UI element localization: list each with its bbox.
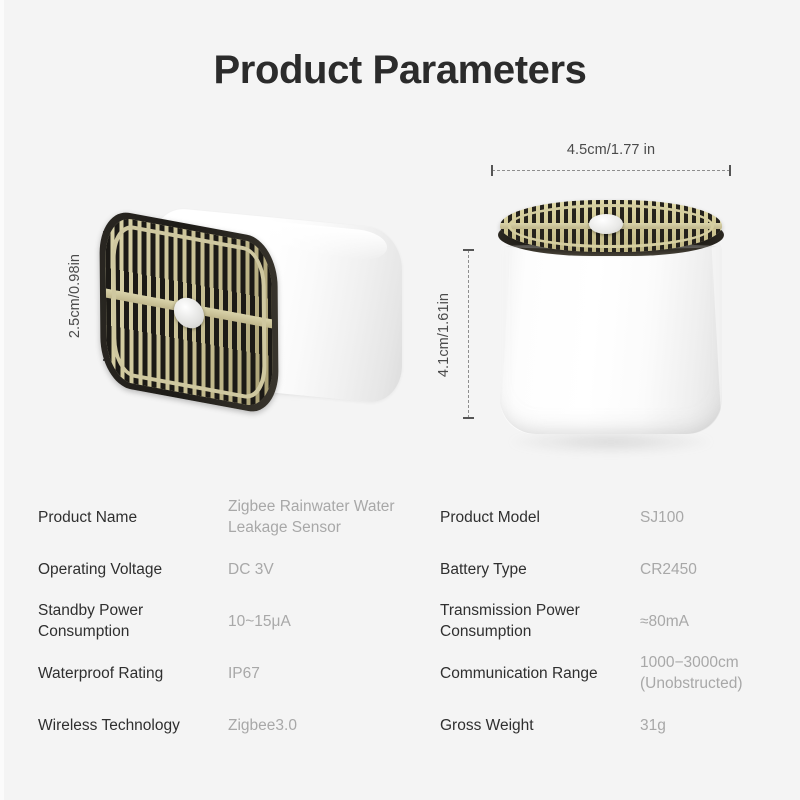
spec-value: Zigbee3.0 <box>228 700 440 752</box>
product-image-top-view <box>492 192 730 452</box>
spec-value: 31g <box>640 700 778 752</box>
page-title: Product Parameters <box>0 48 800 93</box>
right-product-body-shading <box>500 234 722 434</box>
spec-value: DC 3V <box>228 544 440 596</box>
right-width-cap-right <box>729 165 731 176</box>
spec-label: Wireless Technology <box>38 700 228 752</box>
spec-label: Waterproof Rating <box>38 648 228 700</box>
product-image-front-view <box>100 218 405 403</box>
right-width-dimension-label: 4.5cm/1.77 in <box>492 142 730 158</box>
spec-value: IP67 <box>228 648 440 700</box>
spec-label: Operating Voltage <box>38 544 228 596</box>
right-width-cap-left <box>491 165 493 176</box>
spec-label: Product Model <box>440 492 640 544</box>
spec-value: SJ100 <box>640 492 778 544</box>
spec-label: Battery Type <box>440 544 640 596</box>
right-width-dimension-line <box>492 170 730 171</box>
right-height-cap-bottom <box>463 417 474 419</box>
right-height-dimension-line <box>468 250 469 418</box>
spec-label: Gross Weight <box>440 700 640 752</box>
right-height-dimension-label: 4.1cm/1.61in <box>436 276 452 394</box>
left-height-dimension-label: 2.5cm/0.98in <box>67 237 83 355</box>
spec-value: CR2450 <box>640 544 778 596</box>
right-height-cap-top <box>463 249 474 251</box>
spec-value: 10~15μA <box>228 596 440 648</box>
product-showcase: 2.5cm/0.98in 4.5cm/1.77 in 4.1cm/1.61in <box>0 130 800 460</box>
spec-value: 1000−3000cm (Unobstructed) <box>640 648 778 700</box>
specifications-table: Product Name Zigbee Rainwater Water Leak… <box>38 492 778 752</box>
spec-label: Communication Range <box>440 648 640 700</box>
sensor-button-top-icon <box>589 214 623 234</box>
spec-label: Transmission Power Consumption <box>440 596 640 648</box>
spec-label: Product Name <box>38 492 228 544</box>
spec-value: ≈80mA <box>640 596 778 648</box>
spec-value: Zigbee Rainwater Water Leakage Sensor <box>228 492 440 544</box>
spec-label: Standby Power Consumption <box>38 596 228 648</box>
